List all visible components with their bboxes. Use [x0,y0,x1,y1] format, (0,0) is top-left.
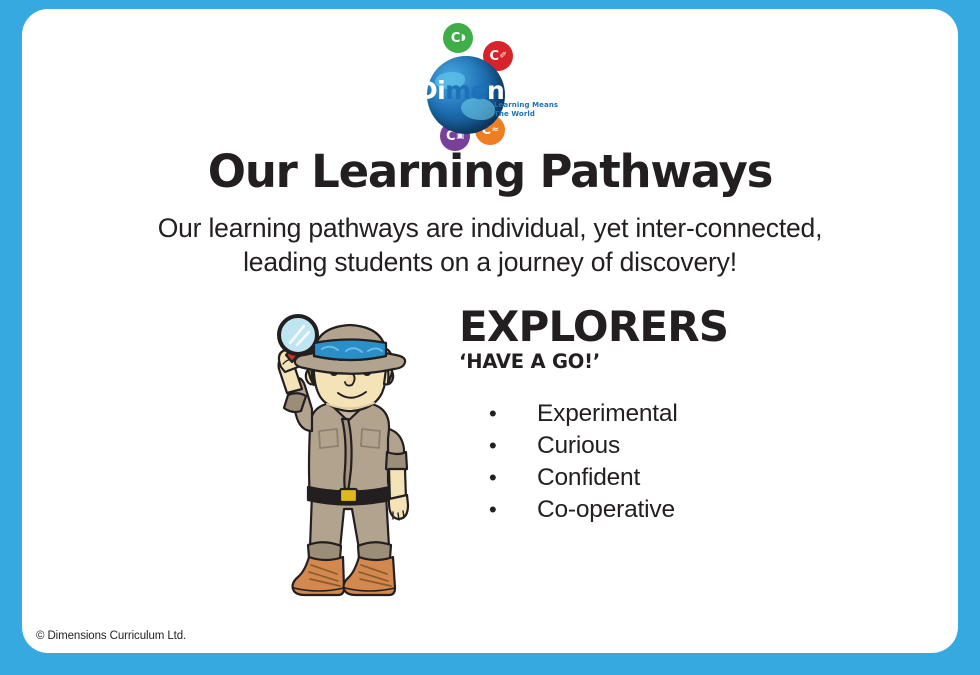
slide-card: C◗ C✐ C≈ C▣ Dimensions Learning Means Th… [22,9,958,653]
trait-label: Confident [537,466,640,491]
list-item: • Curious [459,434,939,466]
page-subtitle-line-1: Our learning pathways are individual, ye… [22,211,958,245]
belt-buckle-icon [340,489,357,502]
pathway-traits-list: • Experimental • Curious • Confident • C… [459,402,939,530]
trait-label: Curious [537,434,620,459]
bullet-icon: • [459,435,537,457]
copyright-notice: © Dimensions Curriculum Ltd. [36,630,186,642]
logo-bubble-green-icon: C◗ [443,23,473,53]
slide: C◗ C✐ C≈ C▣ Dimensions Learning Means Th… [0,0,980,675]
logo-bubble-green-glyph: ◗ [461,34,465,43]
logo-bubble-orange-glyph: ≈ [492,126,499,135]
page-subtitle-line-2: leading students on a journey of discove… [22,245,958,279]
logo-word-part-2: me [445,76,487,105]
logo-tagline-line-1: Learning Means [494,101,564,110]
logo-word-part-1: Di [417,76,445,105]
explorer-figure-icon [252,309,467,604]
logo-tagline: Learning Means The World [494,101,564,120]
trait-label: Experimental [537,402,678,427]
page-subtitle: Our learning pathways are individual, ye… [22,211,958,279]
logo-wordmark: Dimensions [417,78,567,103]
bullet-icon: • [459,403,537,425]
explorer-illustration [252,309,467,604]
pathway-name: EXPLORERS [459,305,939,349]
list-item: • Co-operative [459,498,939,530]
bullet-icon: • [459,467,537,489]
list-item: • Confident [459,466,939,498]
list-item: • Experimental [459,402,939,434]
trait-label: Co-operative [537,498,675,523]
brand-logo: C◗ C✐ C≈ C▣ Dimensions Learning Means Th… [22,21,958,146]
logo-bubble-green-letter: C [451,32,460,45]
logo-tagline-line-2: The World [494,110,564,119]
logo-bubble-red-letter: C [489,50,498,63]
page-title: Our Learning Pathways [22,148,958,195]
pathway-block: EXPLORERS ‘HAVE A GO!’ • Experimental • … [459,305,939,530]
bullet-icon: • [459,499,537,521]
logo-bubble-red-glyph: ✐ [500,52,507,61]
pathway-motto: ‘HAVE A GO!’ [459,351,939,372]
sleeve-cuff-left [284,393,306,412]
